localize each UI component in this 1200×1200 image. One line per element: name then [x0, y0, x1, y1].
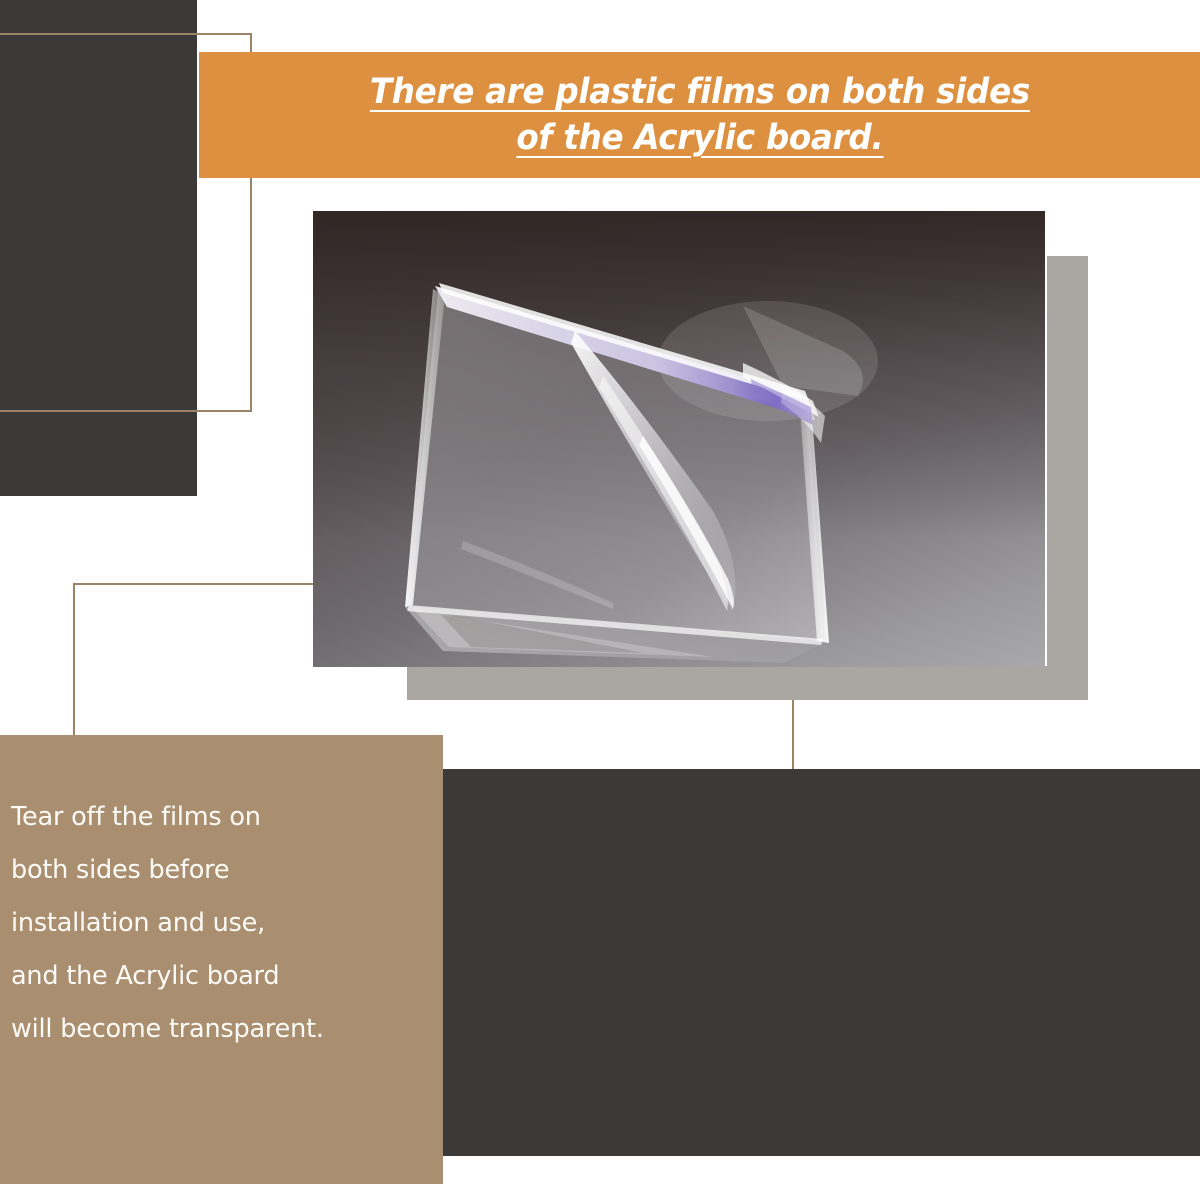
page-title: There are plastic films on both sides of…: [358, 69, 1040, 161]
instruction-panel: Tear off the films on both sides before …: [0, 735, 443, 1184]
page-title-line-2: of the Acrylic board.: [369, 115, 1029, 161]
hero-shadow-right: [1047, 256, 1088, 700]
instruction-text: Tear off the films on both sides before …: [11, 791, 441, 1056]
page-title-line-1: There are plastic films on both sides: [369, 69, 1029, 115]
instruction-line-1: Tear off the films on: [11, 791, 441, 844]
hero-product-image: [313, 211, 1045, 667]
header-banner: There are plastic films on both sides of…: [199, 52, 1200, 178]
instruction-line-2: both sides before: [11, 844, 441, 897]
instruction-line-5: will become transparent.: [11, 1003, 441, 1056]
photo-frame: There is a protective film on both sides…: [443, 769, 1200, 1156]
acrylic-board-illustration: [313, 211, 1045, 667]
poster-canvas: There are plastic films on both sides of…: [0, 0, 1200, 1200]
instruction-line-3: installation and use,: [11, 897, 441, 950]
hero-shadow-bottom: [407, 666, 1088, 700]
instruction-line-4: and the Acrylic board: [11, 950, 441, 1003]
